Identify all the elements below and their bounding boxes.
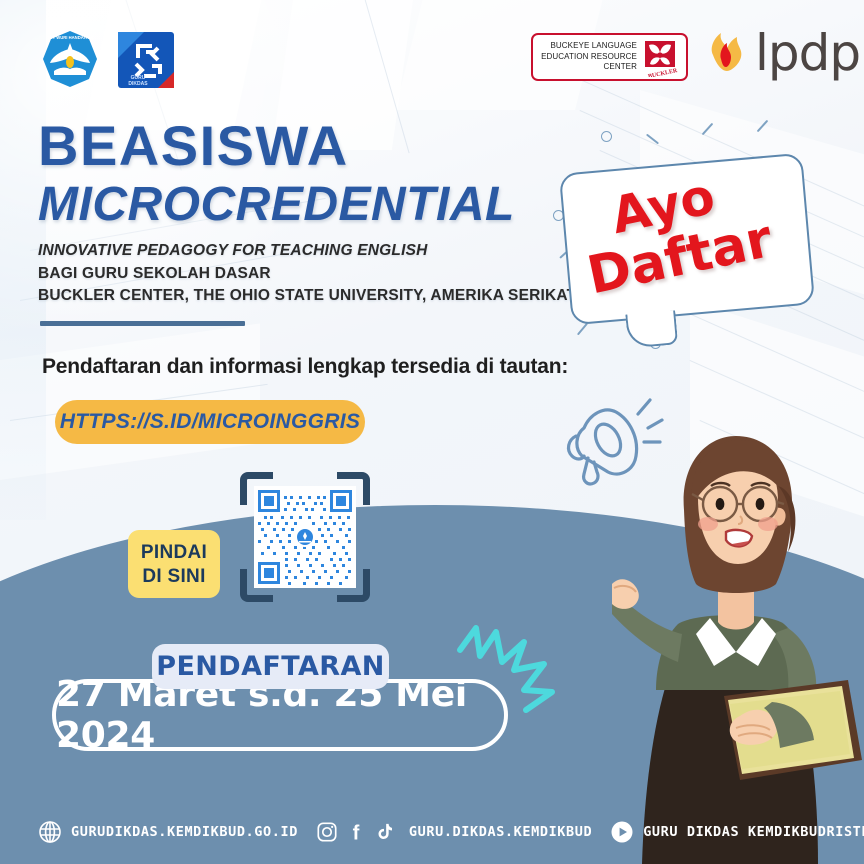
instagram-icon[interactable] — [316, 821, 338, 843]
buckeye-language-education-resource-center-logo: BUCKEYE LANGUAGE EDUCATION RESOURCE CENT… — [531, 33, 688, 81]
teacher-illustration — [612, 428, 864, 864]
footer-social-handle-label[interactable]: GURU.DIKDAS.KEMDIKBUD — [409, 824, 592, 840]
guru-dikdas-logo: GURU DIKDAS — [118, 32, 174, 88]
registration-url-button[interactable]: HTTPS://S.ID/MICROINGGRIS — [55, 400, 365, 444]
youtube-play-icon[interactable] — [610, 820, 634, 844]
subtitle-line-1: INNOVATIVE PEDAGOGY FOR TEACHING ENGLISH — [38, 240, 576, 263]
svg-text:f: f — [353, 822, 360, 843]
svg-text:BUCKLER: BUCKLER — [648, 68, 679, 77]
footer-youtube-channel-label[interactable]: GURU DIKDAS KEMDIKBUDRISTEK — [643, 824, 864, 840]
registration-period-badge-label: PENDAFTARAN — [156, 651, 384, 682]
scan-here-label: PINDAI DI SINI — [128, 530, 220, 598]
registration-lead-text: Pendaftaran dan informasi lengkap tersed… — [42, 355, 568, 379]
lpdp-logo: lpdp — [705, 28, 860, 78]
footer-website-label[interactable]: GURUDIKDAS.KEMDIKBUD.GO.ID — [71, 824, 298, 840]
scan-here-line-1: PINDAI — [141, 542, 207, 563]
registration-period-pill: 27 Maret s.d. 25 Mei 2024 — [52, 679, 508, 751]
registration-qr-code[interactable] — [240, 472, 370, 602]
title-line-beasiswa: BEASISWA — [38, 118, 349, 174]
speech-bubble: Ayo Daftar — [559, 153, 815, 326]
subtitle-line-3: BUCKLER CENTER, THE OHIO STATE UNIVERSIT… — [38, 285, 576, 308]
svg-text:DIKDAS: DIKDAS — [128, 81, 148, 87]
subtitle-line-2: BAGI GURU SEKOLAH DASAR — [38, 263, 576, 286]
buckler-mark-icon: BUCKLER — [641, 37, 681, 77]
svg-text:TUT WURI HANDAYANI: TUT WURI HANDAYANI — [47, 35, 93, 40]
globe-icon — [38, 820, 62, 844]
lpdp-flame-icon — [705, 29, 751, 77]
footer-bar: GURUDIKDAS.KEMDIKBUD.GO.ID f GURU.DIKDAS… — [0, 800, 864, 864]
facebook-icon[interactable]: f — [347, 821, 365, 843]
registration-period-badge: PENDAFTARAN — [152, 644, 389, 689]
scan-here-line-2: DI SINI — [142, 566, 205, 587]
registration-url-text: HTTPS://S.ID/MICROINGGRIS — [60, 410, 360, 434]
buckeye-logo-text: BUCKEYE LANGUAGE EDUCATION RESOURCE CENT… — [538, 41, 637, 73]
tiktok-icon[interactable] — [374, 821, 394, 843]
kemdikbud-tut-wuri-handayani-logo: TUT WURI HANDAYANI — [40, 29, 100, 89]
title-line-microcredential: MICROCREDENTIAL — [38, 180, 515, 230]
spark-circle-icon — [601, 131, 612, 142]
subtitle-block: INNOVATIVE PEDAGOGY FOR TEACHING ENGLISH… — [38, 240, 576, 308]
lpdp-wordmark: lpdp — [755, 28, 860, 78]
title-divider — [40, 321, 245, 326]
qr-matrix — [254, 486, 356, 588]
poster-canvas: TUT WURI HANDAYANI GURU DIKDAS BUCKEYE L… — [0, 0, 864, 864]
